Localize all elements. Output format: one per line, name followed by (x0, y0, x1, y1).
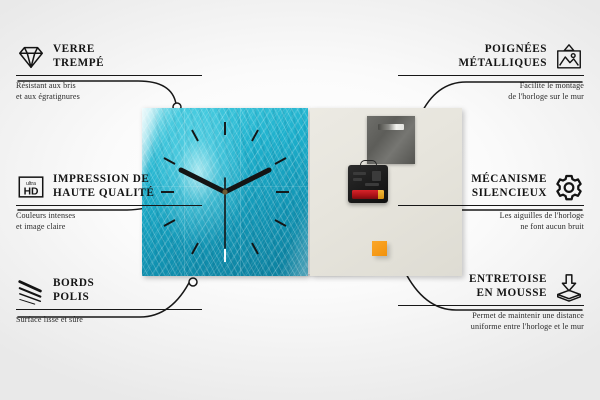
mechanism-detail (353, 172, 366, 175)
ultra-hd-icon: ultra HD (16, 172, 46, 202)
divider (16, 205, 202, 206)
foam-spacer-arrow-icon (554, 272, 584, 302)
feature-header: POIGNÉES MÉTALLIQUES (398, 42, 584, 72)
minute-hand (225, 170, 269, 192)
feature-entretoise-en-mousse: ENTRETOISE EN MOUSSE Permet de maintenir… (398, 272, 584, 332)
feature-title: VERRE TREMPÉ (53, 43, 104, 71)
battery-terminal (378, 190, 384, 199)
feature-impression-haute-qualite: ultra HD IMPRESSION DE HAUTE QUALITÉ Cou… (16, 172, 202, 232)
feature-description: Surface lisse et sûre (16, 314, 202, 325)
mechanism-hook (360, 160, 377, 170)
feature-description: Facilite le montage de l'horloge sur le … (398, 80, 584, 102)
feature-header: ENTRETOISE EN MOUSSE (398, 272, 584, 302)
feature-header: ultra HD IMPRESSION DE HAUTE QUALITÉ (16, 172, 202, 202)
feature-title: BORDS POLIS (53, 277, 94, 305)
metal-hanger-plate (367, 116, 415, 164)
diamond-icon (16, 42, 46, 72)
feature-description: Les aiguilles de l'horloge ne font aucun… (398, 210, 584, 232)
feature-description: Résistant aux bris et aux égratignures (16, 80, 202, 102)
mechanism-detail (353, 178, 362, 181)
feature-poignees-metalliques: POIGNÉES MÉTALLIQUES Facilite le montage… (398, 42, 584, 102)
picture-frame-hanging-icon (554, 42, 584, 72)
feature-header: BORDS POLIS (16, 276, 202, 306)
svg-text:HD: HD (24, 187, 39, 198)
product-infographic: VERRE TREMPÉ Résistant aux bris et aux é… (0, 0, 600, 400)
divider (16, 309, 202, 310)
hands-pivot (222, 189, 227, 194)
quartz-mechanism (348, 165, 388, 203)
polished-edges-icon (16, 276, 46, 306)
feature-mecanisme-silencieux: MÉCANISME SILENCIEUX Les aiguilles de l'… (398, 172, 584, 232)
feature-header: VERRE TREMPÉ (16, 42, 202, 72)
feature-title: IMPRESSION DE HAUTE QUALITÉ (53, 173, 154, 201)
feature-header: MÉCANISME SILENCIEUX (398, 172, 584, 202)
feature-description: Permet de maintenir une distance uniform… (398, 310, 584, 332)
feature-description: Couleurs intenses et image claire (16, 210, 202, 232)
battery (352, 190, 384, 199)
feature-verre-trempe: VERRE TREMPÉ Résistant aux bris et aux é… (16, 42, 202, 102)
divider (398, 305, 584, 306)
mechanism-detail (372, 171, 381, 181)
gear-icon (554, 172, 584, 202)
feature-title: MÉCANISME SILENCIEUX (471, 173, 547, 201)
divider (16, 75, 202, 76)
feature-title: POIGNÉES MÉTALLIQUES (458, 43, 547, 71)
divider (398, 75, 584, 76)
mechanism-detail (365, 183, 379, 186)
divider (398, 205, 584, 206)
hanger-slot (378, 124, 404, 130)
feature-title: ENTRETOISE EN MOUSSE (469, 273, 547, 301)
feature-bords-polis: BORDS POLIS Surface lisse et sûre (16, 276, 202, 325)
foam-spacer (372, 241, 387, 256)
